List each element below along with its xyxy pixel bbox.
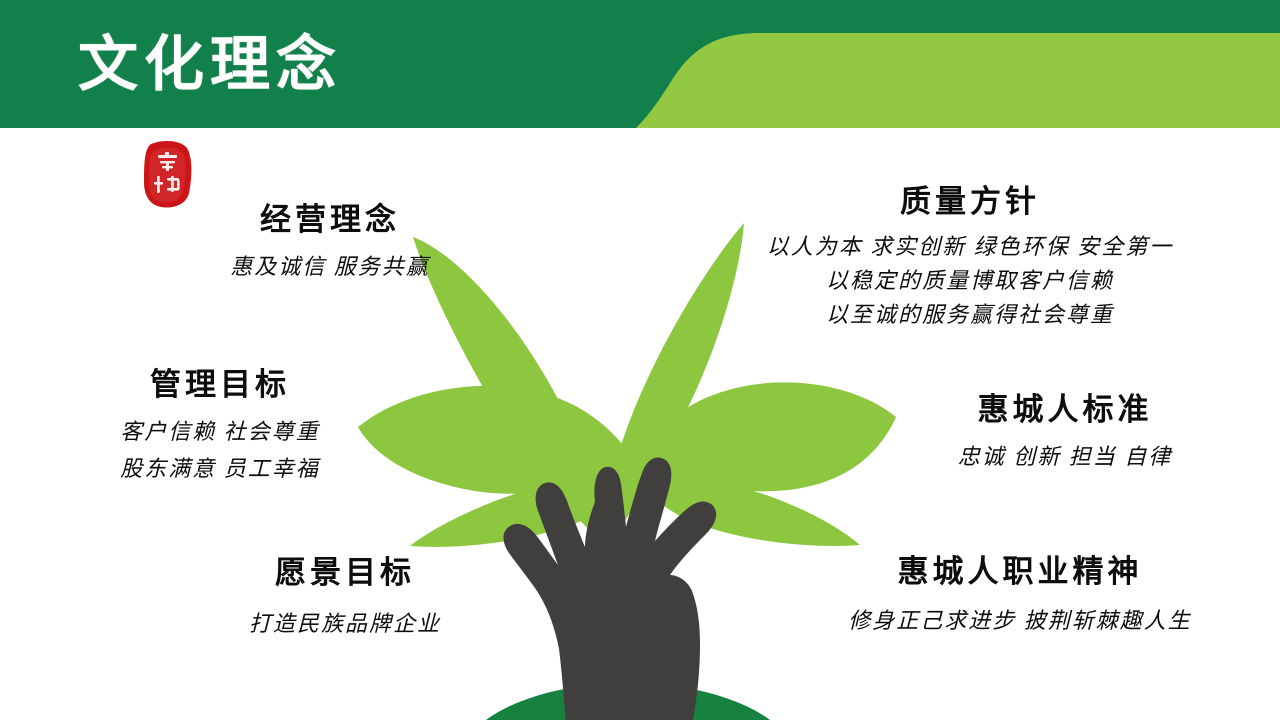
page-title: 文化理念 — [78, 28, 342, 102]
block-heading-management: 管理目标 — [60, 365, 380, 405]
block-line-standard-1: 忠诚 创新 担当 自律 — [915, 438, 1215, 475]
text-block-huicheng-standard: 惠城人标准 忠诚 创新 担当 自律 — [915, 390, 1215, 475]
header-green-curve — [636, 33, 1280, 128]
block-heading-spirit: 惠城人职业精神 — [800, 552, 1240, 592]
text-block-business-philosophy: 经营理念 惠及诚信 服务共赢 — [170, 200, 490, 285]
text-block-management-goals: 管理目标 客户信赖 社会尊重 股东满意 员工幸福 — [60, 365, 380, 487]
seal-icon — [144, 141, 191, 208]
block-heading-standard: 惠城人标准 — [915, 390, 1215, 430]
block-line-vision-1: 打造民族品牌企业 — [195, 605, 495, 642]
block-line-spirit-1: 修身正己求进步 披荆斩棘趣人生 — [800, 602, 1240, 639]
block-heading-business: 经营理念 — [170, 200, 490, 240]
block-heading-quality: 质量方针 — [755, 182, 1185, 222]
block-heading-vision: 愿景目标 — [195, 553, 495, 593]
block-line-quality-2: 以稳定的质量博取客户信赖 — [755, 264, 1185, 298]
block-line-quality-1: 以人为本 求实创新 绿色环保 安全第一 — [755, 230, 1185, 264]
block-line-management-2: 股东满意 员工幸福 — [60, 450, 380, 487]
text-block-quality-policy: 质量方针 以人为本 求实创新 绿色环保 安全第一 以稳定的质量博取客户信赖 以至… — [755, 182, 1185, 332]
block-line-quality-3: 以至诚的服务赢得社会尊重 — [755, 298, 1185, 332]
block-line-business-1: 惠及诚信 服务共赢 — [170, 248, 490, 285]
block-line-management-1: 客户信赖 社会尊重 — [60, 413, 380, 450]
text-block-huicheng-spirit: 惠城人职业精神 修身正己求进步 披荆斩棘趣人生 — [800, 552, 1240, 639]
text-block-vision-goals: 愿景目标 打造民族品牌企业 — [195, 553, 495, 642]
slide-canvas: 文化理念 — [0, 0, 1280, 720]
